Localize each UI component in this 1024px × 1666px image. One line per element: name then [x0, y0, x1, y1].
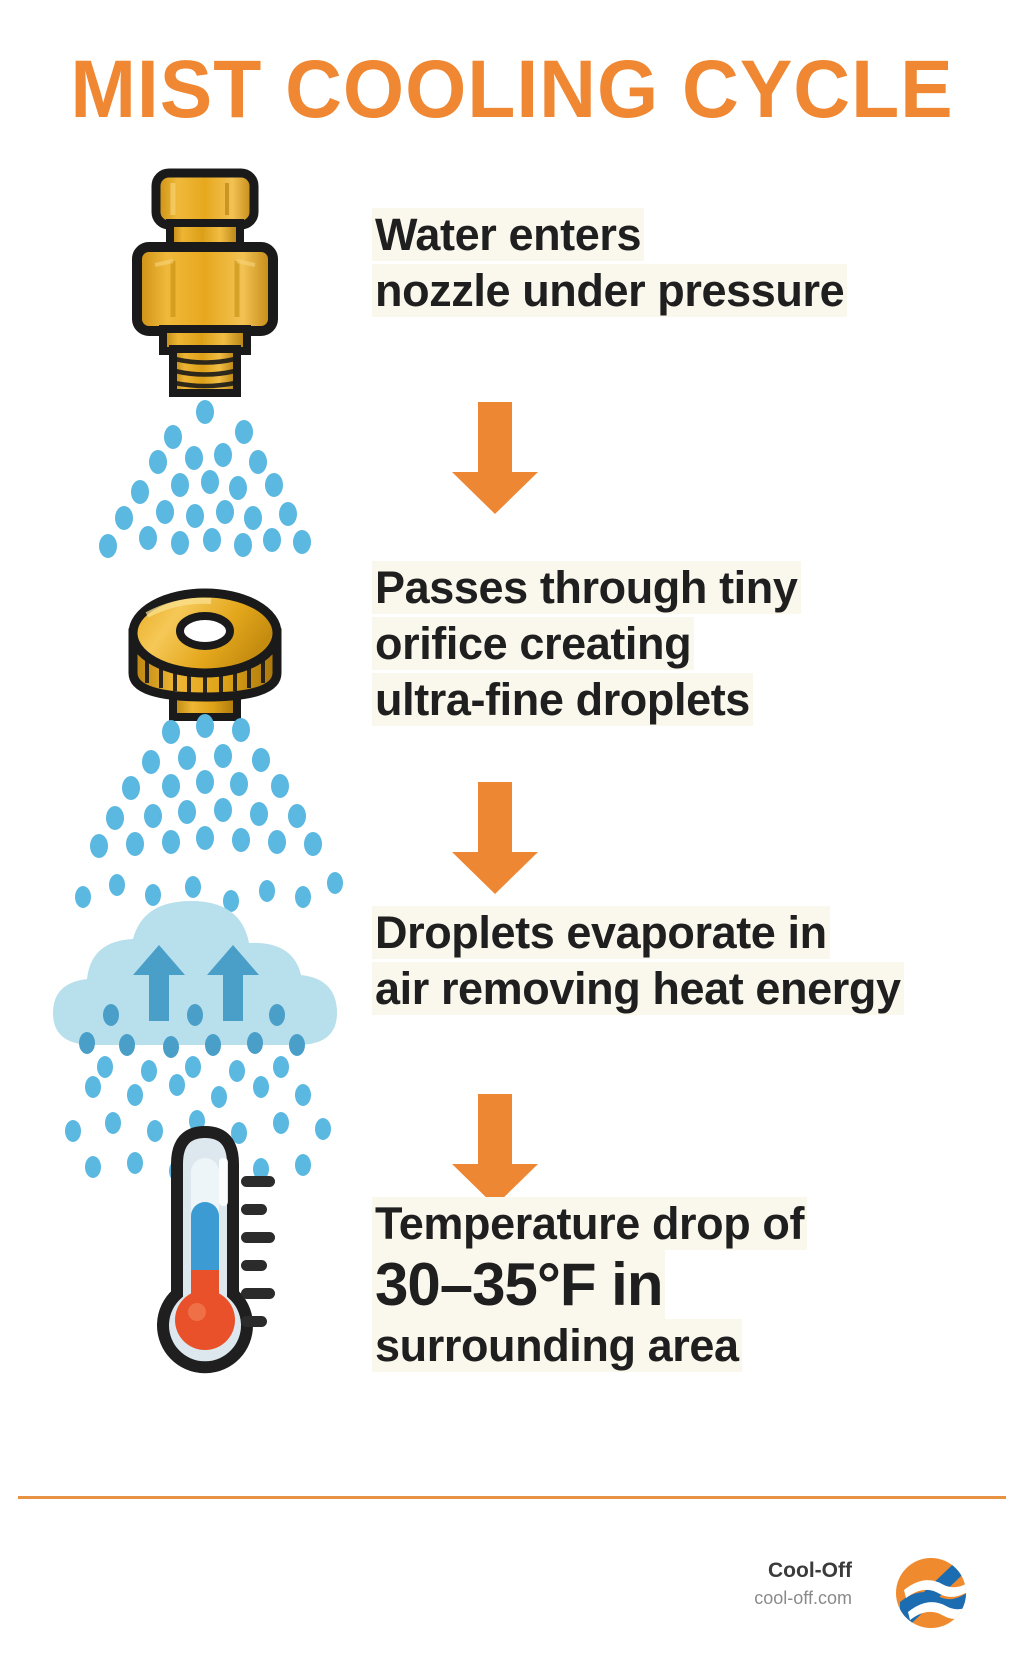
evaporation-cloud-icon [40, 875, 350, 1075]
step-2-line-3: ultra-fine droplets [372, 673, 753, 726]
step-3-line-1: Droplets evaporate in [372, 906, 830, 959]
step-3-text: Droplets evaporate in air removing heat … [372, 905, 992, 1017]
step-4-text: Temperature drop of 30–35°F in surroundi… [372, 1196, 992, 1374]
step-2-line-1: Passes through tiny [372, 561, 801, 614]
droplet-group [99, 400, 311, 558]
brand-name: Cool-Off [552, 1558, 852, 1584]
step-4-line-3: surrounding area [372, 1319, 742, 1372]
orifice-disk-icon [60, 575, 350, 720]
step-1-line-2: nozzle under pressure [372, 264, 847, 317]
step-2-text: Passes through tiny orifice creating ult… [372, 560, 992, 728]
page-title: MIST COOLING CYCLE [20, 44, 1003, 136]
step-4-line-1: Temperature drop of [372, 1197, 807, 1250]
step-3-line-2: air removing heat energy [372, 962, 904, 1015]
step-1-line-1: Water enters [372, 208, 644, 261]
temperature-drop-value: 30–35°F in [372, 1250, 665, 1319]
step-1-text: Water enters nozzle under pressure [372, 207, 992, 319]
infographic-poster: MIST COOLING CYCLE [0, 0, 1024, 1666]
arrow-2 [440, 778, 550, 896]
droplet-group [90, 714, 322, 858]
cool-off-logo-icon [894, 1556, 968, 1630]
brass-nozzle-icon [60, 165, 350, 395]
brand-block: Cool-Off cool-off.com [552, 1558, 852, 1610]
brand-url: cool-off.com [552, 1586, 852, 1610]
arrow-1 [440, 398, 550, 516]
step-2-line-2: orifice creating [372, 617, 694, 670]
thermometer-icon [60, 1118, 350, 1378]
footer-divider [18, 1496, 1006, 1499]
arrow-3 [440, 1090, 550, 1208]
